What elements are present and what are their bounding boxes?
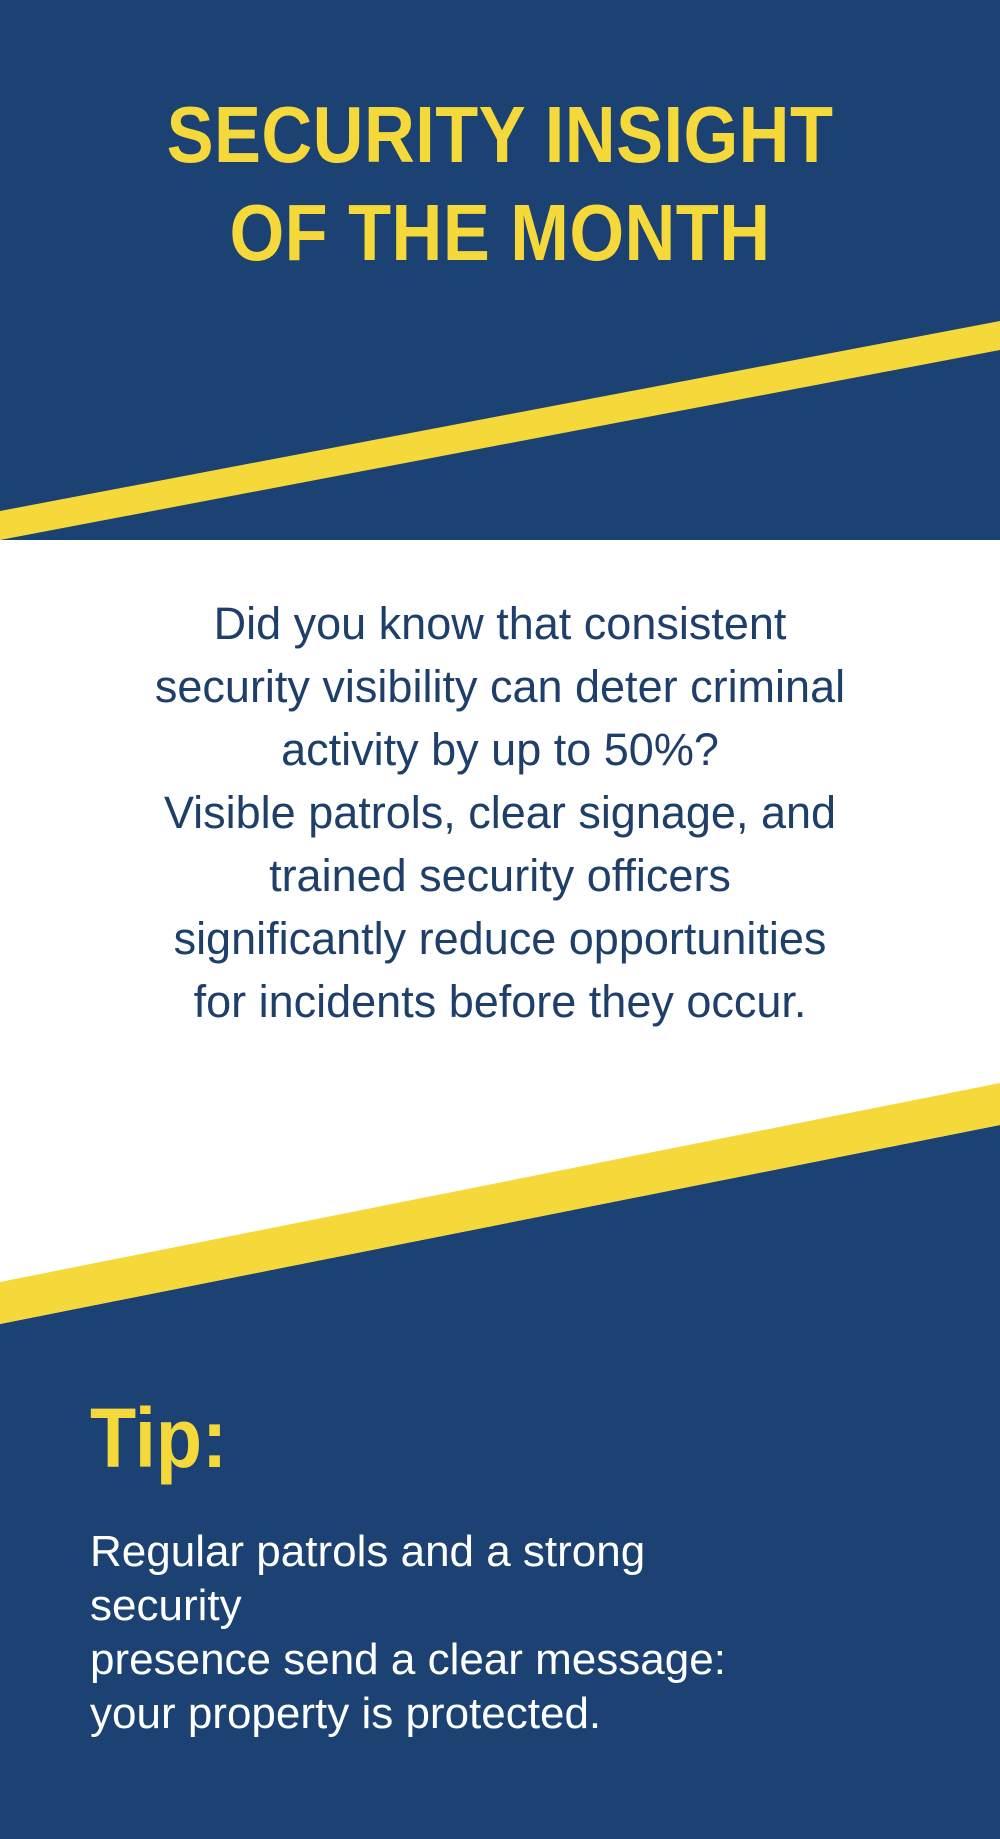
tip-line-3: your property is protected. [90,1687,790,1741]
title-line-1: SECURITY INSIGHT [60,86,940,184]
body-line-7: for incidents before they occur. [150,970,850,1033]
body-line-3: activity by up to 50%? [150,718,850,781]
body-line-4: Visible patrols, clear signage, and [150,781,850,844]
body-line-1: Did you know that consistent [150,592,850,655]
page-title: SECURITY INSIGHT OF THE MONTH [0,86,1000,282]
body-line-5: trained security officers [150,844,850,907]
body-line-2: security visibility can deter criminal [150,655,850,718]
poster-canvas: SECURITY INSIGHT OF THE MONTH Did you kn… [0,0,1000,1839]
title-line-2: OF THE MONTH [60,184,940,282]
tip-copy: Regular patrols and a strong security pr… [90,1525,790,1741]
body-line-6: significantly reduce opportunities [150,907,850,970]
tip-line-1: Regular patrols and a strong security [90,1525,790,1633]
tip-heading: Tip: [90,1396,227,1480]
body-copy: Did you know that consistent security vi… [150,592,850,1033]
tip-line-2: presence send a clear message: [90,1633,790,1687]
